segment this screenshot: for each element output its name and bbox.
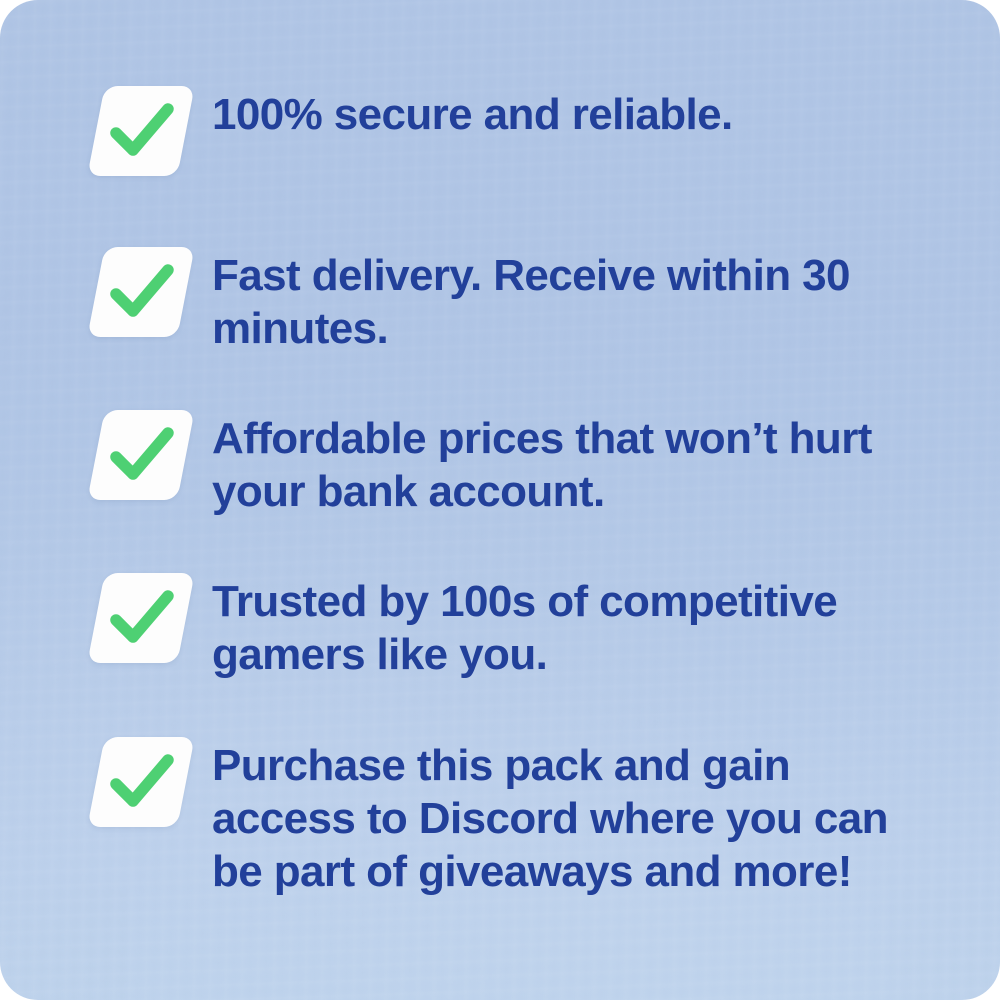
check-icon [96, 410, 186, 500]
check-icon [96, 737, 186, 827]
list-item: Fast delivery. Receive within 30 minutes… [96, 245, 882, 355]
benefit-text: Trusted by 100s of competitive gamers li… [212, 571, 882, 681]
check-mark-glyph [96, 86, 186, 176]
check-mark-glyph [96, 573, 186, 663]
benefits-card: 100% secure and reliable. Fast delivery.… [0, 0, 1000, 1000]
list-item: Affordable prices that won’t hurt your b… [96, 408, 902, 518]
benefit-text: 100% secure and reliable. [212, 84, 733, 141]
benefit-text: Purchase this pack and gain access to Di… [212, 735, 902, 898]
check-icon [96, 86, 186, 176]
list-item: Purchase this pack and gain access to Di… [96, 735, 902, 898]
benefit-text: Affordable prices that won’t hurt your b… [212, 408, 902, 518]
check-icon [96, 573, 186, 663]
benefit-text: Fast delivery. Receive within 30 minutes… [212, 245, 882, 355]
check-icon [96, 247, 186, 337]
check-mark-glyph [96, 410, 186, 500]
list-item: 100% secure and reliable. [96, 84, 733, 176]
check-mark-glyph [96, 737, 186, 827]
check-mark-glyph [96, 247, 186, 337]
list-item: Trusted by 100s of competitive gamers li… [96, 571, 882, 681]
